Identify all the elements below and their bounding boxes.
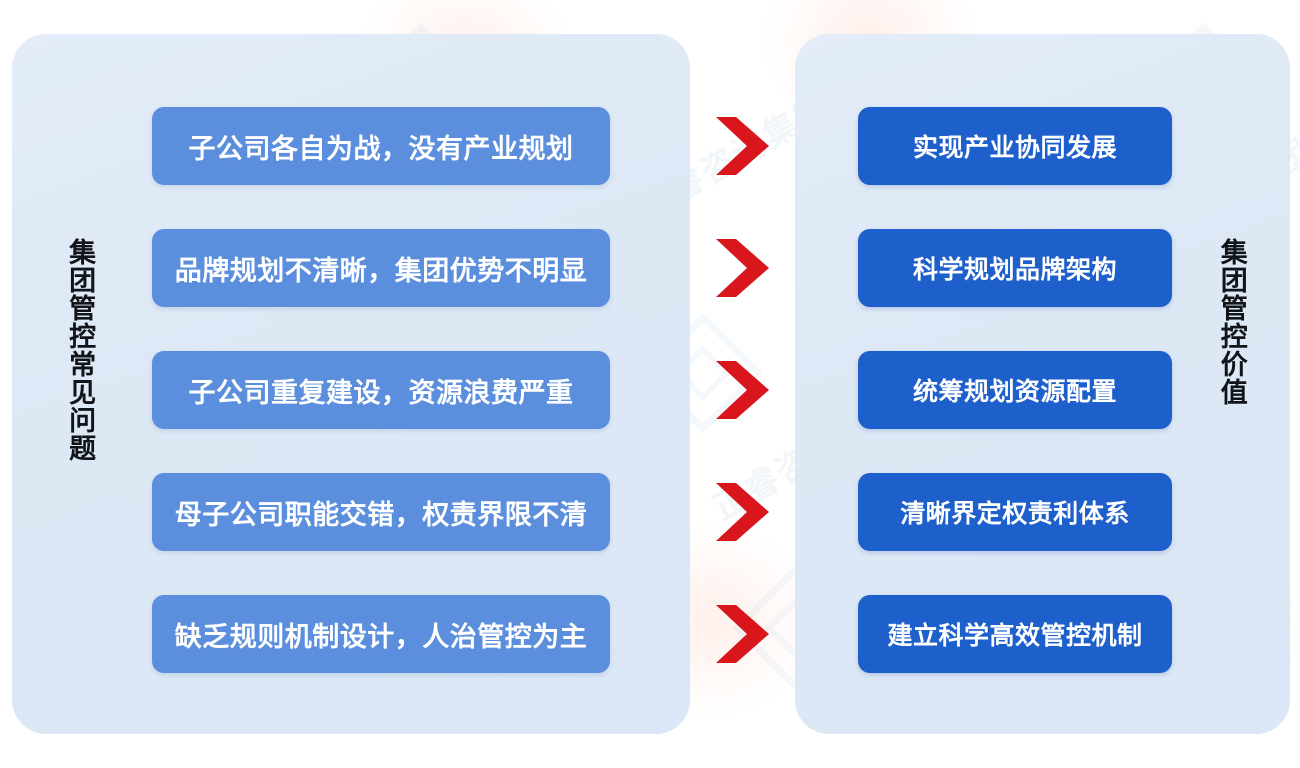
problems-panel-caption: 集团管控常见问题 — [62, 238, 97, 462]
problem-item-label: 品牌规划不清晰，集团优势不明显 — [175, 249, 588, 288]
chevron-right-icon — [714, 481, 772, 543]
problem-item-label: 子公司重复建设，资源浪费严重 — [189, 371, 574, 410]
problem-item[interactable]: 母子公司职能交错，权责界限不清 — [152, 473, 610, 551]
value-item-label: 建立科学高效管控机制 — [887, 616, 1142, 652]
problem-item[interactable]: 子公司重复建设，资源浪费严重 — [152, 351, 610, 429]
connector-slot — [708, 595, 778, 673]
value-item-label: 统筹规划资源配置 — [913, 372, 1117, 408]
problem-item-label: 缺乏规则机制设计，人治管控为主 — [175, 615, 588, 654]
problem-item[interactable]: 缺乏规则机制设计，人治管控为主 — [152, 595, 610, 673]
values-list: 实现产业协同发展 科学规划品牌架构 统筹规划资源配置 清晰界定权责利体系 建立科… — [858, 107, 1172, 673]
value-item[interactable]: 清晰界定权责利体系 — [858, 473, 1172, 551]
connector-slot — [708, 229, 778, 307]
value-item[interactable]: 科学规划品牌架构 — [858, 229, 1172, 307]
connector-slot — [708, 351, 778, 429]
value-item[interactable]: 统筹规划资源配置 — [858, 351, 1172, 429]
problem-item[interactable]: 子公司各自为战，没有产业规划 — [152, 107, 610, 185]
problem-item-label: 子公司各自为战，没有产业规划 — [189, 127, 574, 166]
values-panel-caption: 集团管控价值 — [1209, 238, 1253, 406]
connector-slot — [708, 473, 778, 551]
value-item-label: 实现产业协同发展 — [913, 128, 1117, 164]
value-item-label: 科学规划品牌架构 — [913, 250, 1117, 286]
chevron-right-icon — [714, 115, 772, 177]
chevron-right-icon — [714, 603, 772, 665]
value-item[interactable]: 建立科学高效管控机制 — [858, 595, 1172, 673]
problems-list: 子公司各自为战，没有产业规划 品牌规划不清晰，集团优势不明显 子公司重复建设，资… — [152, 107, 610, 673]
value-item-label: 清晰界定权责利体系 — [900, 494, 1130, 530]
chevron-right-icon — [714, 237, 772, 299]
connector-slot — [708, 107, 778, 185]
problem-item[interactable]: 品牌规划不清晰，集团优势不明显 — [152, 229, 610, 307]
diagram-canvas: 正睿咨询集团 正睿咨询集团 正睿咨询集团 正睿咨询集团 正睿咨询集团 正睿咨询集… — [0, 0, 1300, 768]
problem-item-label: 母子公司职能交错，权责界限不清 — [175, 493, 588, 532]
chevron-right-icon — [714, 359, 772, 421]
value-item[interactable]: 实现产业协同发展 — [858, 107, 1172, 185]
connector-column — [708, 107, 778, 673]
